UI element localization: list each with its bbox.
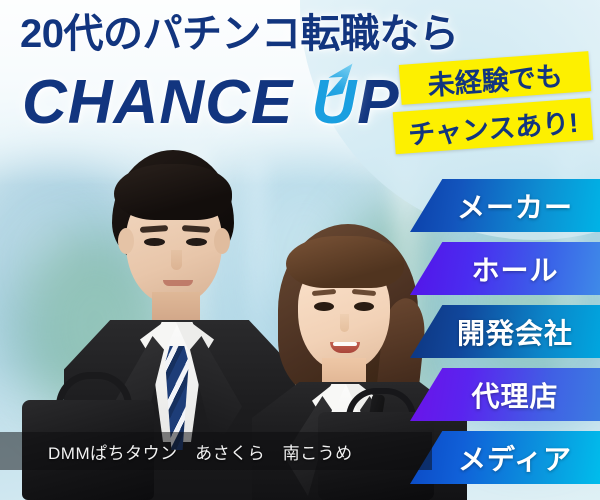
eye-right: [354, 302, 374, 311]
credit-band: DMMぱちタウン あさくら 南こうめ: [0, 432, 432, 470]
promo-banner: 20代のパチンコ転職なら CHANCE UP 未経験でも チャンスあり! メーカ…: [0, 0, 600, 500]
ear-right: [214, 228, 230, 254]
hair-fringe: [114, 164, 232, 220]
nav-button-maker[interactable]: メーカー: [410, 179, 600, 232]
eye-right: [186, 238, 207, 246]
ear-left: [118, 228, 134, 254]
eye-left: [314, 302, 334, 311]
credit-text: DMMぱちタウン あさくら 南こうめ: [0, 439, 353, 464]
logo-u-letter: U: [311, 72, 357, 134]
eye-left: [144, 238, 165, 246]
mouth: [163, 280, 193, 286]
page-title: 20代のパチンコ転職なら: [20, 14, 459, 54]
logo-u-glyph: U: [311, 68, 357, 137]
nav-button-media[interactable]: メディア: [410, 431, 600, 484]
nose: [171, 250, 182, 270]
chance-up-logo: CHANCE UP: [22, 72, 400, 134]
logo-text-part1: CHANCE: [22, 68, 311, 137]
teeth: [333, 342, 357, 346]
nav-button-hall[interactable]: ホール: [410, 242, 600, 295]
nav-button-agency[interactable]: 代理店: [410, 368, 600, 421]
hair-fringe: [286, 236, 404, 288]
nose: [340, 314, 349, 332]
nav-button-development-company[interactable]: 開発会社: [410, 305, 600, 358]
